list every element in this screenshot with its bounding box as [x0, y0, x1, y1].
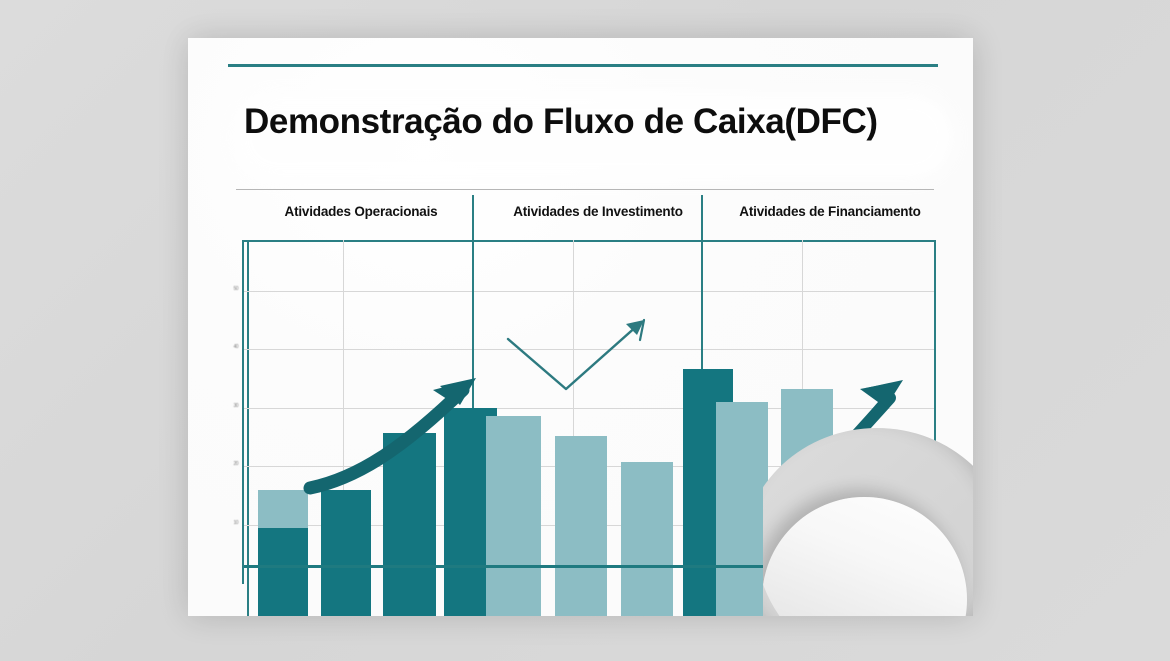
- bar-op-3[interactable]: [383, 433, 436, 616]
- chart-baseline: [244, 565, 936, 568]
- paper-card: Demonstração do Fluxo de Caixa(DFC) Ativ…: [188, 38, 973, 616]
- bar-op-2[interactable]: [321, 490, 371, 616]
- bar-inv-1[interactable]: [486, 416, 541, 616]
- bar-op-1[interactable]: [258, 528, 308, 616]
- bar-op-1-light-segment: [258, 490, 308, 528]
- bar-inv-3[interactable]: [621, 462, 673, 616]
- screenshot-root: Demonstração do Fluxo de Caixa(DFC) Ativ…: [0, 0, 1170, 661]
- bar-fin-1[interactable]: [716, 402, 768, 616]
- bar-fin-2[interactable]: [781, 389, 833, 616]
- bars-layer: [188, 38, 973, 616]
- bar-inv-2[interactable]: [555, 436, 607, 616]
